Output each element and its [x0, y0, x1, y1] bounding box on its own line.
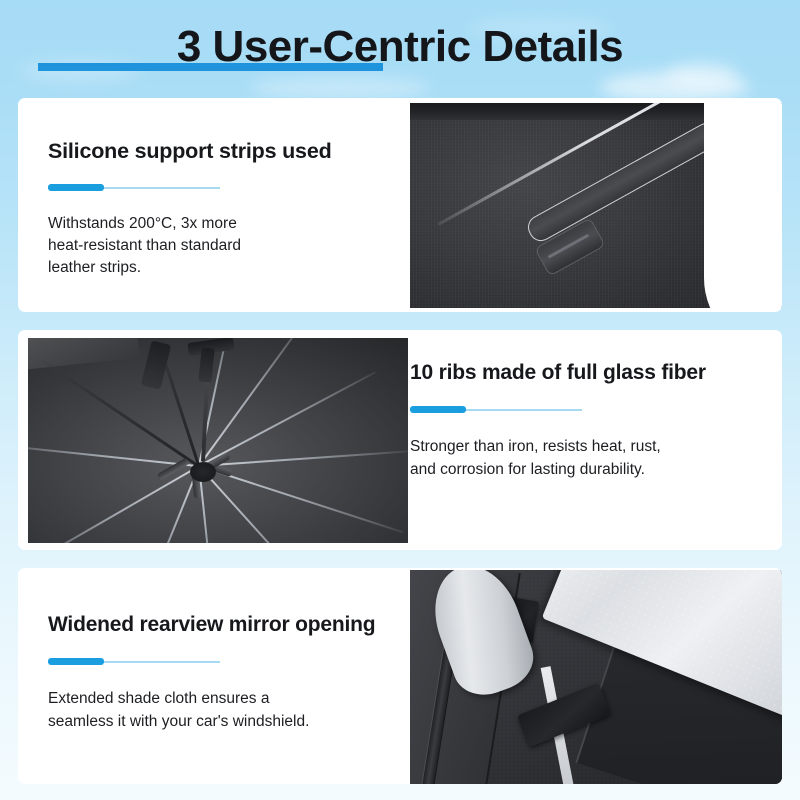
feature-body-text: Stronger than iron, resists heat, rust, …: [410, 435, 778, 481]
infographic-page: 3 User-Centric Details Silicone support …: [0, 0, 800, 800]
feature-image-silicone-strip: [410, 103, 782, 308]
feature-body-text: Extended shade cloth ensures a seamless …: [48, 687, 408, 733]
feature-text-block: Widened rearview mirror opening Extended…: [48, 612, 408, 733]
feature-text-block: Silicone support strips used Withstands …: [48, 138, 408, 279]
feature-card-glass-fiber-ribs: 10 ribs made of full glass fiber Stronge…: [18, 330, 782, 550]
feature-heading: Widened rearview mirror opening: [48, 612, 408, 638]
feature-body-text: Withstands 200°C, 3x more heat-resistant…: [48, 213, 408, 279]
page-title-container: 3 User-Centric Details: [0, 22, 800, 72]
feature-image-umbrella-ribs: [28, 338, 408, 543]
cloud-decoration: [250, 76, 430, 100]
divider-bar: [410, 406, 582, 413]
page-title: 3 User-Centric Details: [177, 22, 623, 72]
feature-text-block: 10 ribs made of full glass fiber Stronge…: [410, 360, 778, 481]
feature-image-mirror-opening: [410, 570, 782, 784]
feature-heading: 10 ribs made of full glass fiber: [410, 360, 778, 386]
feature-card-rearview-mirror-opening: Widened rearview mirror opening Extended…: [18, 568, 782, 784]
divider-bar: [48, 184, 220, 191]
divider-bar: [48, 658, 220, 665]
feature-heading: Silicone support strips used: [48, 138, 408, 164]
feature-card-silicone-support-strips: Silicone support strips used Withstands …: [18, 98, 782, 312]
